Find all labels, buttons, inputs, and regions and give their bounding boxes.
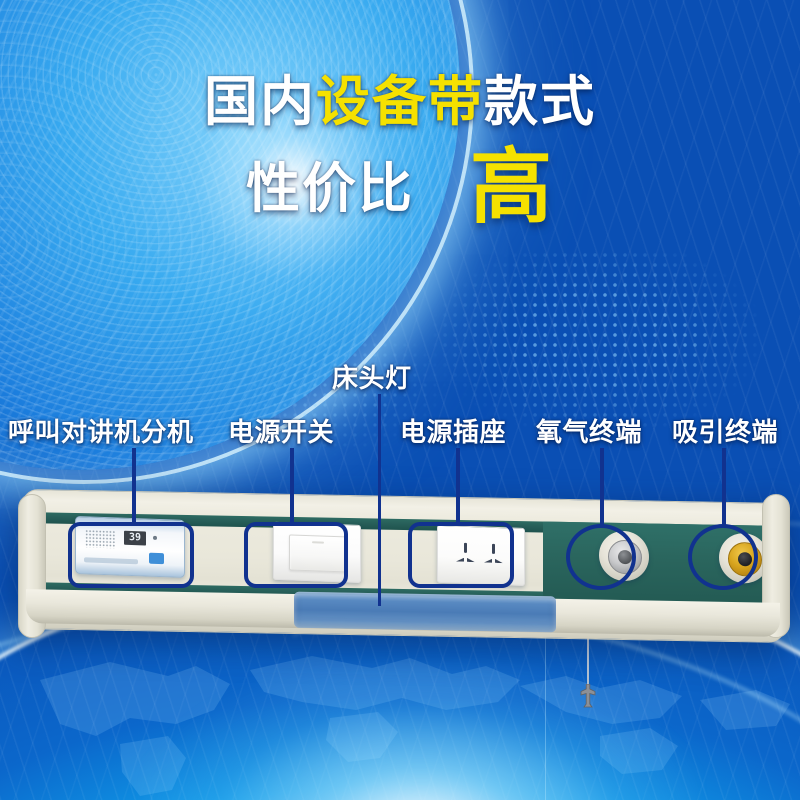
bed-lamp-diffuser[interactable] [294, 592, 556, 633]
leader-line-suction [722, 448, 726, 526]
promo-banner: 国内设备带款式 性价比高 呼叫对讲机分机 电源开关 床头灯 电源插座 氧气终端 … [0, 0, 800, 800]
headline-line1-part3: 款式 [484, 72, 596, 132]
highlight-circle-oxygen [566, 524, 636, 590]
callout-label-bed-lamp: 床头灯 [332, 358, 412, 395]
headline-line-2: 性价比高 [0, 145, 800, 231]
headline-block: 国内设备带款式 性价比高 [0, 74, 800, 231]
callout-label-power-socket: 电源插座 [400, 412, 506, 449]
highlight-box-power-switch [244, 522, 348, 588]
vertical-guide-line [545, 620, 546, 800]
leader-line-power-switch [290, 448, 294, 526]
headline-line2-highlight: 高 [470, 142, 554, 233]
highlight-box-power-socket [408, 522, 514, 588]
bottom-light-burst [140, 660, 700, 800]
headline-line2-part1: 性价比 [246, 159, 414, 219]
callout-label-suction: 吸引终端 [672, 412, 778, 449]
callout-label-power-switch: 电源开关 [228, 412, 334, 449]
pull-cord-handle-icon[interactable] [578, 684, 598, 708]
highlight-box-intercom [68, 522, 194, 588]
leader-line-power-socket [456, 448, 460, 526]
headline-line1-part1: 国内 [204, 72, 316, 132]
headline-line-1: 国内设备带款式 [0, 74, 800, 131]
headline-line1-highlight: 设备带 [316, 72, 484, 132]
highlight-circle-suction [688, 524, 758, 590]
callout-label-intercom: 呼叫对讲机分机 [8, 412, 194, 449]
leader-line-intercom [132, 448, 136, 524]
callout-label-oxygen: 氧气终端 [536, 412, 642, 449]
leader-line-oxygen [600, 448, 604, 528]
leader-line-bed-lamp [378, 394, 381, 606]
